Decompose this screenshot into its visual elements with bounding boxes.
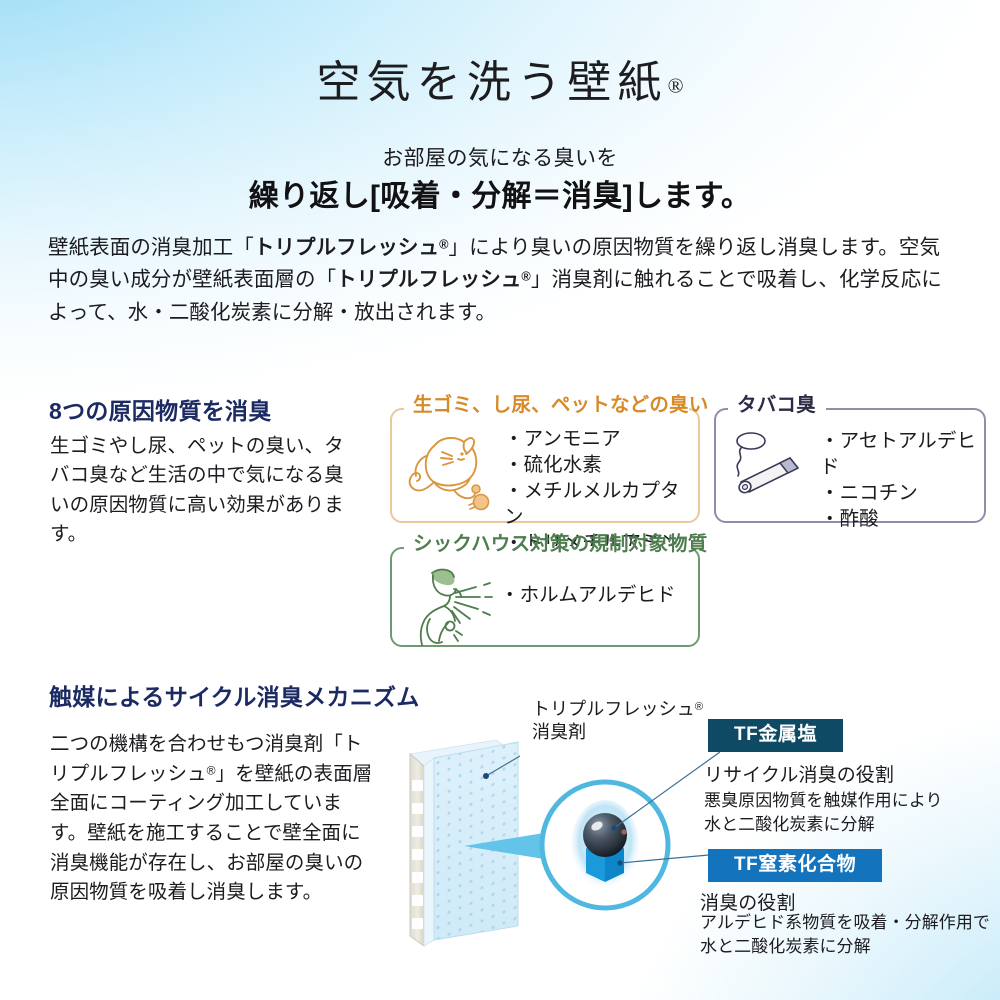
odor-group-box-kitchen-pet-legend: 生ゴミ、し尿、ペットなどの臭い (406, 396, 715, 416)
lead-paragraph: 壁紙表面の消臭加工「トリプルフレッシュ®」により臭いの原因物質を繰り返し消臭しま… (48, 232, 952, 329)
section-1-paragraph: 生ゴミやし尿、ペットの臭い、タバコ臭など生活の中で気になる臭いの原因物質に高い効… (50, 432, 355, 549)
badge-tf-metal-salt: TF金属塩 (708, 719, 843, 752)
badge-tf-nitrogen-compound: TF窒素化合物 (708, 849, 882, 882)
coughing-person-icon (406, 563, 498, 647)
brand-name-1: トリプルフレッシュ (254, 236, 439, 259)
brand-name-2: トリプルフレッシュ (336, 268, 521, 291)
page-title: 空気を洗う壁紙® (0, 46, 1000, 110)
odor-group-box-sick-house-items: ・ホルムアルデヒド (500, 583, 676, 609)
lead-text-a: 壁紙表面の消臭加工「 (48, 236, 254, 259)
cigarette-icon (728, 430, 820, 502)
callout-1-body: 悪臭原因物質を触媒作用により 水と二酸化炭素に分解 (704, 789, 943, 837)
diagram-caption-line-1: トリプルフレッシュ (532, 699, 695, 719)
section-2-paragraph: 二つの機構を合わせもつ消臭剤「トリプルフレッシュ®」を壁紙の表面層全面にコーティ… (50, 730, 375, 908)
callout-1-role: リサイクル消臭の役割 (704, 760, 894, 787)
odor-group-box-tobacco: タバコ臭 ・アセトアルデヒド ・ニコチン ・酢酸 (714, 408, 986, 523)
subtitle-line-1: お部屋の気になる臭いを (0, 142, 1000, 172)
cat-icon (402, 426, 502, 512)
odor-group-box-sick-house-legend: シックハウス対策の規制対象物質 (406, 535, 714, 555)
subtitle-line-2: 繰り返し[吸着・分解＝消臭]します。 (0, 171, 1000, 215)
registered-mark-icon: ® (695, 701, 703, 713)
callout-2-body: アルデヒド系物質を吸着・分解作用で 水と二酸化炭素に分解 (700, 911, 990, 959)
odor-group-box-tobacco-items: ・アセトアルデヒド ・ニコチン ・酢酸 (820, 429, 984, 533)
infographic-page: 空気を洗う壁紙® お部屋の気になる臭いを 繰り返し[吸着・分解＝消臭]します。 … (0, 0, 1000, 1000)
registered-mark-icon: ® (668, 73, 684, 97)
wallpaper-cross-section-diagram (400, 740, 720, 975)
odor-group-box-kitchen-pet: 生ゴミ、し尿、ペットなどの臭い ・アンモニア ・硫化水素 ・メチルメルカプタン … (390, 408, 700, 523)
diagram-caption: トリプルフレッシュ®消臭剤 (532, 698, 703, 745)
registered-mark-icon: ® (207, 763, 216, 777)
registered-mark-icon: ® (521, 269, 530, 284)
odor-group-box-sick-house: シックハウス対策の規制対象物質 ・ホルムアルデヒド (390, 547, 700, 647)
page-title-text: 空気を洗う壁紙 (316, 58, 667, 107)
section-1-heading: 8つの原因物質を消臭 (49, 392, 272, 426)
odor-group-box-tobacco-legend: タバコ臭 (730, 396, 823, 416)
registered-mark-icon: ® (439, 236, 448, 251)
section-2-heading: 触媒によるサイクル消臭メカニズム (49, 678, 420, 712)
